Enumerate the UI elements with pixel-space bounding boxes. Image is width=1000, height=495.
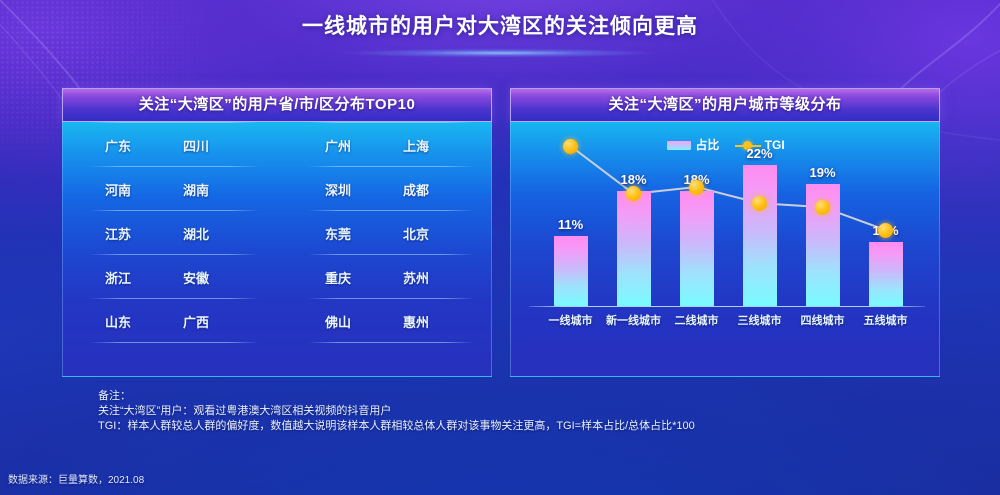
right-panel: 关注“大湾区”的用户城市等级分布 占比 TGI 11%一线城市18%新一线城市1… [510,88,940,377]
list-item[interactable]: 重庆 [325,268,351,287]
left-panel-body: 广东四川广州上海河南湖南深圳成都江苏湖北东莞北京浙江安徽重庆苏州山东广西佛山惠州 [62,122,492,377]
city-tier-chart: 11%一线城市18%新一线城市18%二线城市22%三线城市19%四线城市10%五… [511,122,940,376]
chart-bar[interactable] [743,165,777,306]
list-item[interactable]: 苏州 [403,268,429,287]
list-row: 广东四川广州上海 [63,122,492,166]
left-panel-title: 关注“大湾区”的用户省/市/区分布TOP10 [62,88,492,122]
list-item[interactable]: 安徽 [183,268,209,287]
tgi-data-point[interactable] [689,180,704,195]
row-divider-left [89,298,259,299]
chart-bar[interactable] [554,236,588,306]
list-item[interactable]: 湖北 [183,224,209,243]
province-city-list: 广东四川广州上海河南湖南深圳成都江苏湖北东莞北京浙江安徽重庆苏州山东广西佛山惠州 [63,122,492,376]
list-bottom-divider-row [63,342,492,343]
row-divider-right [308,254,474,255]
footnotes: 备注： 关注“大湾区”用户：观看过粤港澳大湾区相关视频的抖音用户 TGI：样本人… [98,389,898,434]
title-underline-glow [290,47,710,59]
tgi-data-point[interactable] [815,200,830,215]
footnote-definition-tgi: TGI：样本人群较总人群的偏好度，数值越大说明该样本人群相较总体人群对该事物关注… [98,419,898,434]
list-item[interactable]: 四川 [183,136,209,155]
list-item[interactable]: 深圳 [325,180,351,199]
list-item[interactable]: 佛山 [325,312,351,331]
slide-canvas: 一线城市的用户对大湾区的关注倾向更高 关注“大湾区”的用户省/市/区分布TOP1… [0,0,1000,495]
left-panel: 关注“大湾区”的用户省/市/区分布TOP10 广东四川广州上海河南湖南深圳成都江… [62,88,492,377]
chart-bar[interactable] [617,191,651,306]
list-item[interactable]: 山东 [105,312,131,331]
tgi-data-point[interactable] [878,223,893,238]
row-divider-left [89,342,259,343]
list-item[interactable]: 惠州 [403,312,429,331]
bar-value-label: 11% [541,217,601,232]
list-item[interactable]: 河南 [105,180,131,199]
row-divider-left [89,254,259,255]
bar-value-label: 19% [793,165,853,180]
list-item[interactable]: 江苏 [105,224,131,243]
data-source-label: 数据来源：巨量算数，2021.08 [8,471,144,486]
chart-bar[interactable] [680,191,714,306]
list-item[interactable]: 广东 [105,136,131,155]
tgi-data-point[interactable] [563,139,578,154]
list-item[interactable]: 北京 [403,224,429,243]
x-axis-line [529,306,925,307]
list-item[interactable]: 广州 [325,136,351,155]
row-divider-right [308,122,474,123]
row-divider-right [308,166,474,167]
list-item[interactable]: 上海 [403,136,429,155]
row-divider-right [308,342,474,343]
right-panel-body: 占比 TGI 11%一线城市18%新一线城市18%二线城市22%三线城市19%四… [510,122,940,377]
list-row: 浙江安徽重庆苏州 [63,254,492,298]
chart-bar[interactable] [869,242,903,306]
list-item[interactable]: 东莞 [325,224,351,243]
list-item[interactable]: 浙江 [105,268,131,287]
list-row: 山东广西佛山惠州 [63,298,492,342]
tgi-data-point[interactable] [752,196,767,211]
row-divider-left [89,122,259,123]
row-divider-left [89,166,259,167]
row-divider-right [308,298,474,299]
footnote-definition-user: 关注“大湾区”用户：观看过粤港澳大湾区相关视频的抖音用户 [98,404,898,419]
list-item[interactable]: 成都 [403,180,429,199]
right-panel-title: 关注“大湾区”的用户城市等级分布 [510,88,940,122]
list-row: 河南湖南深圳成都 [63,166,492,210]
x-axis-label: 五线城市 [848,312,924,328]
row-divider-left [89,210,259,211]
bar-value-label: 18% [604,172,664,187]
list-item[interactable]: 湖南 [183,180,209,199]
bar-value-label: 22% [730,146,790,161]
row-divider-right [308,210,474,211]
page-title: 一线城市的用户对大湾区的关注倾向更高 [0,10,1000,40]
list-row: 江苏湖北东莞北京 [63,210,492,254]
list-item[interactable]: 广西 [183,312,209,331]
footnote-heading: 备注： [98,389,898,404]
